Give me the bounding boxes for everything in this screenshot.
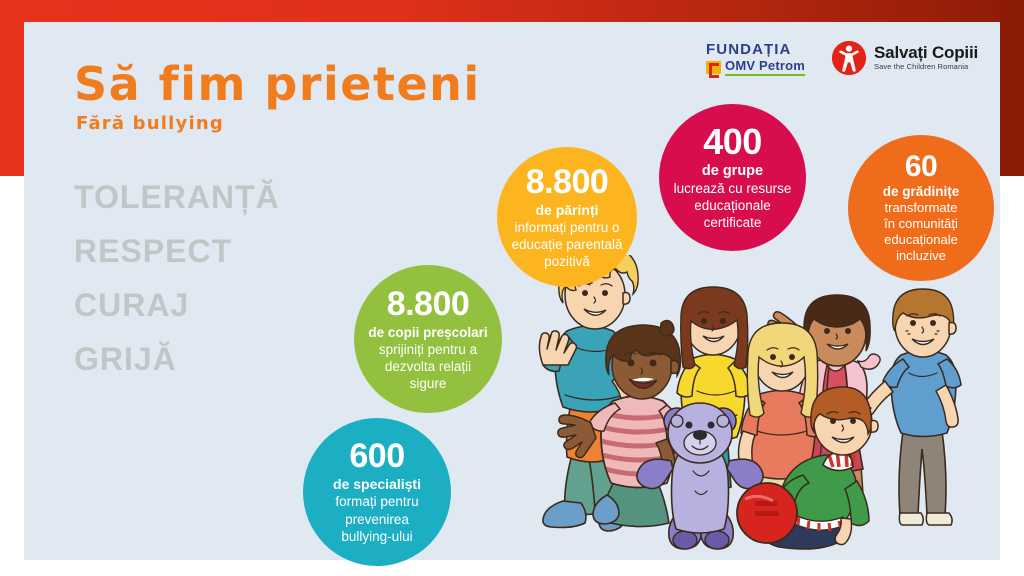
- page-title: Să fim prieteni: [74, 58, 481, 110]
- group-of-children-illustration: .ln{stroke:#3b2a1d;stroke-width:1.5;fill…: [505, 255, 1000, 560]
- stat-bubble-parinti[interactable]: 8.800 de părinți informați pentru o educ…: [497, 147, 637, 287]
- stat-number-gradinite: 60: [905, 152, 937, 182]
- stat-label-specialisti: de specialiști: [333, 476, 421, 494]
- save-the-children-text: Salvați Copiii Save the Children Romania: [874, 44, 978, 72]
- stat-number-specialisti: 600: [349, 439, 404, 473]
- keyword-list: TOLERANȚĂ RESPECT CURAJ GRIJĂ: [74, 170, 374, 386]
- logo-bar: FUNDAȚIA OMV Petrom Salvați Copiii Save …: [706, 40, 978, 76]
- stat-label-parinti: de părinți: [535, 202, 598, 219]
- keyword-grija: GRIJĂ: [74, 332, 374, 386]
- omv-logo-row: OMV Petrom: [706, 59, 805, 76]
- stat-desc-prescolari: sprijiniți pentru a dezvolta relații sig…: [379, 341, 477, 392]
- salvati-copiii-label: Salvați Copiii: [874, 44, 978, 62]
- logo-salvati-copiii: Salvați Copiii Save the Children Romania: [831, 40, 978, 76]
- stat-desc-parinti: informați pentru o educație parentală po…: [511, 219, 622, 270]
- keyword-toleranta: TOLERANȚĂ: [74, 170, 374, 224]
- infographic-canvas: Să fim prieteni Fără bullying TOLERANȚĂ …: [0, 0, 1024, 576]
- omv-fundatia-label: FUNDAȚIA: [706, 41, 791, 58]
- stat-desc-gradinite: transformate în comunități educaționale …: [884, 200, 958, 264]
- stat-desc-grupe: lucrează cu resurse educaționale certifi…: [674, 180, 792, 231]
- frame-top-band: [0, 0, 1024, 22]
- stat-number-parinti: 8.800: [526, 165, 609, 199]
- stat-bubble-specialisti[interactable]: 600 de specialiști formați pentru preven…: [303, 418, 451, 566]
- keyword-curaj: CURAJ: [74, 278, 374, 332]
- stat-number-prescolari: 8.800: [387, 287, 470, 321]
- save-the-children-child-icon: [831, 40, 867, 76]
- stat-label-gradinite: de grădinițe: [883, 184, 960, 200]
- save-the-children-tagline: Save the Children Romania: [874, 62, 978, 72]
- stat-bubble-grupe[interactable]: 400 de grupe lucrează cu resurse educați…: [659, 104, 806, 251]
- omv-petrom-label: OMV Petrom: [725, 59, 805, 76]
- stat-bubble-gradinite[interactable]: 60 de grădinițe transformate în comunită…: [848, 135, 994, 281]
- omv-petrom-mark-icon: [706, 61, 721, 74]
- logo-fundatia-omv-petrom: FUNDAȚIA OMV Petrom: [706, 41, 805, 76]
- page-subtitle: Fără bullying: [76, 113, 224, 135]
- stat-label-grupe: de grupe: [702, 163, 763, 180]
- stat-bubble-prescolari[interactable]: 8.800 de copii preșcolari sprijiniți pen…: [354, 265, 502, 413]
- keyword-respect: RESPECT: [74, 224, 374, 278]
- frame-right-band: [1000, 0, 1024, 176]
- frame-left-band: [0, 0, 24, 176]
- stat-desc-specialisti: formați pentru prevenirea bullying-ului: [335, 493, 418, 546]
- stat-number-grupe: 400: [703, 124, 762, 160]
- stat-label-prescolari: de copii preșcolari: [368, 324, 487, 341]
